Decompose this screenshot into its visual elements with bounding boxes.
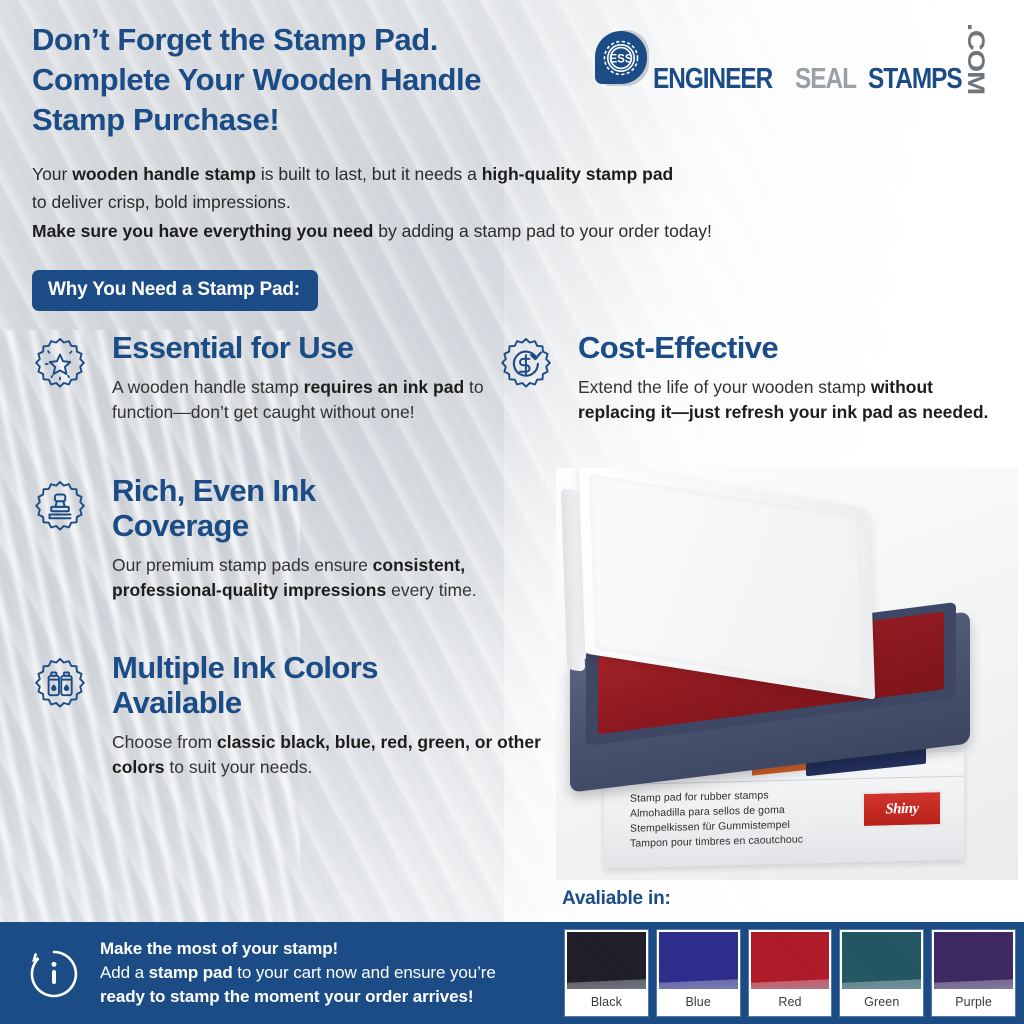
dollar-check-badge-icon [496, 336, 556, 396]
intro-text-1c: is built to last, but it needs a [256, 164, 482, 184]
swatch-red[interactable]: Red [749, 930, 832, 1016]
logo-gear-icon: ESS [595, 31, 647, 84]
cta-line-1: Make the most of your stamp! [100, 937, 496, 961]
feature-body-c: to suit your needs. [165, 757, 313, 777]
feature-body: Extend the life of your wooden stamp wit… [578, 375, 1008, 425]
feature-cost-effective: Cost-Effective Extend the life of your w… [490, 330, 1010, 425]
feature-title-line-2: Available [112, 685, 242, 720]
product-box-text: Stamp pad for rubber stamps Almohadilla … [630, 788, 803, 852]
feature-title-line-1: Rich, Even Ink [112, 473, 316, 508]
color-swatch-bar: Black Blue Red Green Purple [556, 922, 1024, 1024]
swatch-label: Purple [934, 989, 1013, 1014]
infographic-page: Don’t Forget the Stamp Pad. Complete You… [0, 0, 1024, 1024]
feature-rich-even-ink-coverage: Rich, Even Ink Coverage Our premium stam… [24, 473, 524, 603]
feature-title-line-1: Multiple Ink Colors [112, 650, 378, 685]
cta-line-3: ready to stamp the moment your order arr… [100, 985, 496, 1009]
swatch-blue[interactable]: Blue [657, 930, 740, 1016]
available-in-title: Avaliable in: [562, 888, 671, 910]
ink-bottles-badge-icon [30, 656, 90, 716]
stamp-pad-lid-inner [589, 474, 865, 692]
feature-body-a: Our premium stamp pads ensure [112, 555, 373, 575]
swatch-purple[interactable]: Purple [932, 930, 1015, 1016]
swatch-black[interactable]: Black [565, 930, 648, 1016]
feature-title: Essential for Use [112, 330, 524, 365]
star-badge-icon [30, 336, 90, 396]
logo-tld: .COM [963, 23, 987, 94]
swatch-image [567, 932, 646, 989]
feature-column-left: Essential for Use A wooden handle stamp … [24, 330, 524, 806]
feature-title: Multiple Ink Colors Available [112, 650, 524, 720]
swatch-label: Blue [659, 989, 738, 1014]
feature-column-right: Cost-Effective Extend the life of your w… [490, 330, 1010, 451]
feature-multiple-ink-colors: Multiple Ink Colors Available Choose fro… [24, 650, 524, 780]
logo-word-stamps: STAMPS [868, 65, 962, 94]
feature-body-a: Choose from [112, 732, 217, 752]
page-title-line-2: Complete Your Wooden Handle [32, 60, 652, 100]
section-badge: Why You Need a Stamp Pad: [32, 270, 318, 311]
feature-body-c: every time. [386, 580, 476, 600]
page-title: Don’t Forget the Stamp Pad. Complete You… [32, 20, 652, 140]
logo-badge: ESS [593, 30, 649, 86]
feature-body: Our premium stamp pads ensure consistent… [112, 553, 516, 603]
intro-text-3a: Make sure you have everything you need [32, 221, 373, 241]
logo-word-engineer: ENGINEER [653, 65, 772, 94]
header: Don’t Forget the Stamp Pad. Complete You… [32, 20, 992, 140]
box-text-fr: Tampon pour timbres en caoutchouc [630, 832, 803, 851]
feature-body-b: requires an ink pad [304, 377, 464, 397]
swatch-image [659, 932, 738, 989]
logo-wordmark: ENGINEER SEAL STAMPS .COM [653, 23, 992, 94]
brand-logo[interactable]: ESS ENGINEER SEAL STAMPS .COM [593, 23, 992, 94]
feature-title: Cost-Effective [578, 330, 1010, 365]
feature-essential-for-use: Essential for Use A wooden handle stamp … [24, 330, 524, 425]
product-photo: Stamp pad for rubber stamps Almohadilla … [556, 468, 1018, 880]
cta-text: Make the most of your stamp! Add a stamp… [100, 937, 496, 1009]
intro-text-1a: Your [32, 164, 72, 184]
page-title-line-1: Don’t Forget the Stamp Pad. [32, 20, 652, 60]
cta-text-2c: to your cart now and ensure you’re [233, 963, 496, 982]
page-title-line-3: Stamp Purchase! [32, 100, 652, 140]
info-bubble-icon [26, 945, 82, 1001]
swatch-green[interactable]: Green [840, 930, 923, 1016]
stamp-badge-icon [30, 479, 90, 539]
logo-badge-text: ESS [610, 53, 633, 65]
feature-body-a: A wooden handle stamp [112, 377, 304, 397]
ess-gear-icon: ESS [599, 36, 643, 80]
swatch-label: Black [567, 989, 646, 1014]
feature-title: Rich, Even Ink Coverage [112, 473, 524, 543]
swatch-label: Red [751, 989, 830, 1014]
cta-line-2: Add a stamp pad to your cart now and ens… [100, 961, 496, 985]
cta-banner: Make the most of your stamp! Add a stamp… [0, 922, 556, 1024]
swatch-image [842, 932, 921, 989]
swatch-label: Green [842, 989, 921, 1014]
intro-line-2: to deliver crisp, bold impressions. [32, 188, 912, 216]
shiny-brand-logo: Shiny [862, 790, 942, 828]
feature-body: A wooden handle stamp requires an ink pa… [112, 375, 516, 425]
swatch-image [934, 932, 1013, 989]
intro-text-3b: by adding a stamp pad to your order toda… [373, 221, 712, 241]
intro-line-1: Your wooden handle stamp is built to las… [32, 160, 912, 188]
feature-body: Choose from classic black, blue, red, gr… [112, 730, 562, 780]
intro-paragraph: Your wooden handle stamp is built to las… [32, 160, 912, 245]
cta-text-2a: Add a [100, 963, 149, 982]
logo-word-seal: SEAL [795, 65, 856, 94]
cta-text-2b: stamp pad [149, 963, 233, 982]
feature-body-a: Extend the life of your wooden stamp [578, 377, 871, 397]
intro-text-1d: high-quality stamp pad [482, 164, 674, 184]
feature-title-line-2: Coverage [112, 508, 249, 543]
swatch-image [751, 932, 830, 989]
intro-line-3: Make sure you have everything you need b… [32, 217, 912, 245]
intro-text-1b: wooden handle stamp [72, 164, 256, 184]
